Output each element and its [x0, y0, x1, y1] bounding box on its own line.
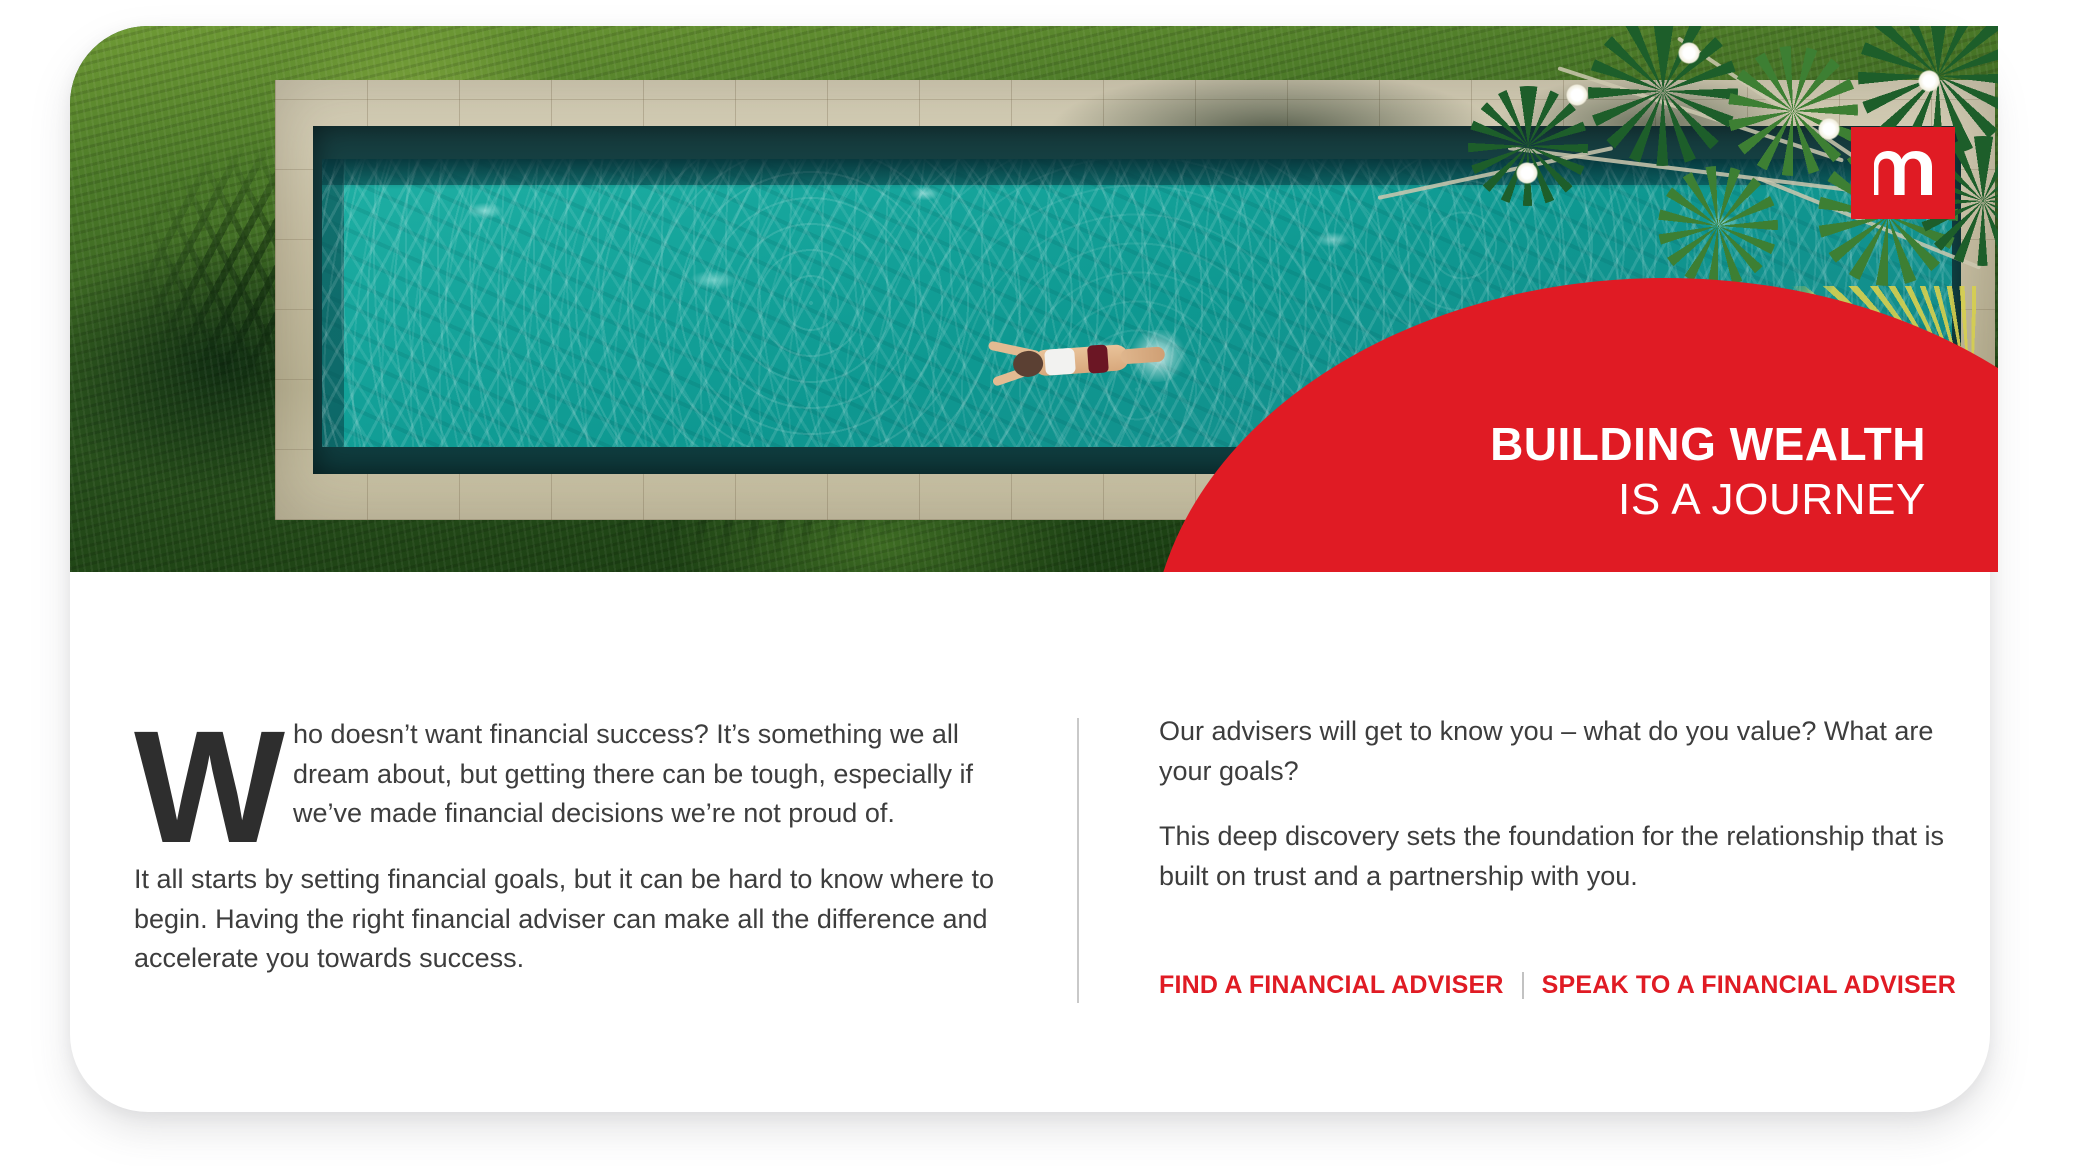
- swimmer-legs: [1120, 346, 1165, 364]
- left-paragraph-2: It all starts by setting financial goals…: [134, 860, 1022, 979]
- leaf-cluster-icon: [1588, 26, 1738, 166]
- leaf-cluster-icon: [1658, 166, 1778, 286]
- swimsuit-bottom: [1087, 344, 1109, 373]
- hero-photo: BUILDING WEALTH IS A JOURNEY: [70, 26, 1998, 572]
- headline-line-2: IS A JOURNEY: [1490, 478, 1926, 522]
- morningstar-m-logo-icon: [1872, 150, 1934, 196]
- brand-logo[interactable]: [1851, 127, 1955, 219]
- flower-icon: [1566, 84, 1588, 106]
- hero-headline: BUILDING WEALTH IS A JOURNEY: [1490, 421, 1926, 522]
- column-divider: [1077, 718, 1079, 1003]
- article-column-right: Our advisers will get to know you – what…: [1159, 712, 1971, 1000]
- left-paragraph-1: Who doesn’t want financial success? It’s…: [134, 715, 1022, 834]
- flower-icon: [1516, 162, 1538, 184]
- link-separator: [1522, 972, 1524, 999]
- flower-icon: [1818, 118, 1840, 140]
- hero-banner: BUILDING WEALTH IS A JOURNEY: [70, 26, 1998, 572]
- headline-line-1: BUILDING WEALTH: [1490, 421, 1926, 467]
- right-paragraph-1: Our advisers will get to know you – what…: [1159, 712, 1971, 791]
- swimmer-figure: [973, 319, 1167, 402]
- drop-cap: W: [134, 721, 281, 852]
- cta-link-group: FIND A FINANCIAL ADVISER SPEAK TO A FINA…: [1159, 971, 1971, 1000]
- leaf-cluster-icon: [1728, 46, 1858, 176]
- right-paragraph-2: This deep discovery sets the foundation …: [1159, 817, 1971, 896]
- flower-icon: [1678, 42, 1700, 64]
- find-a-financial-adviser-link[interactable]: FIND A FINANCIAL ADVISER: [1159, 971, 1504, 1000]
- article-body: Who doesn’t want financial success? It’s…: [70, 600, 1990, 1112]
- left-paragraph-1-text: ho doesn’t want financial success? It’s …: [293, 719, 973, 828]
- swimsuit-top: [1044, 348, 1076, 376]
- flower-icon: [1918, 70, 1940, 92]
- article-column-left: Who doesn’t want financial success? It’s…: [134, 715, 1022, 979]
- page-root: BUILDING WEALTH IS A JOURNEY Who doesn’t…: [0, 0, 2073, 1166]
- speak-to-a-financial-adviser-link[interactable]: SPEAK TO A FINANCIAL ADVISER: [1542, 971, 1956, 1000]
